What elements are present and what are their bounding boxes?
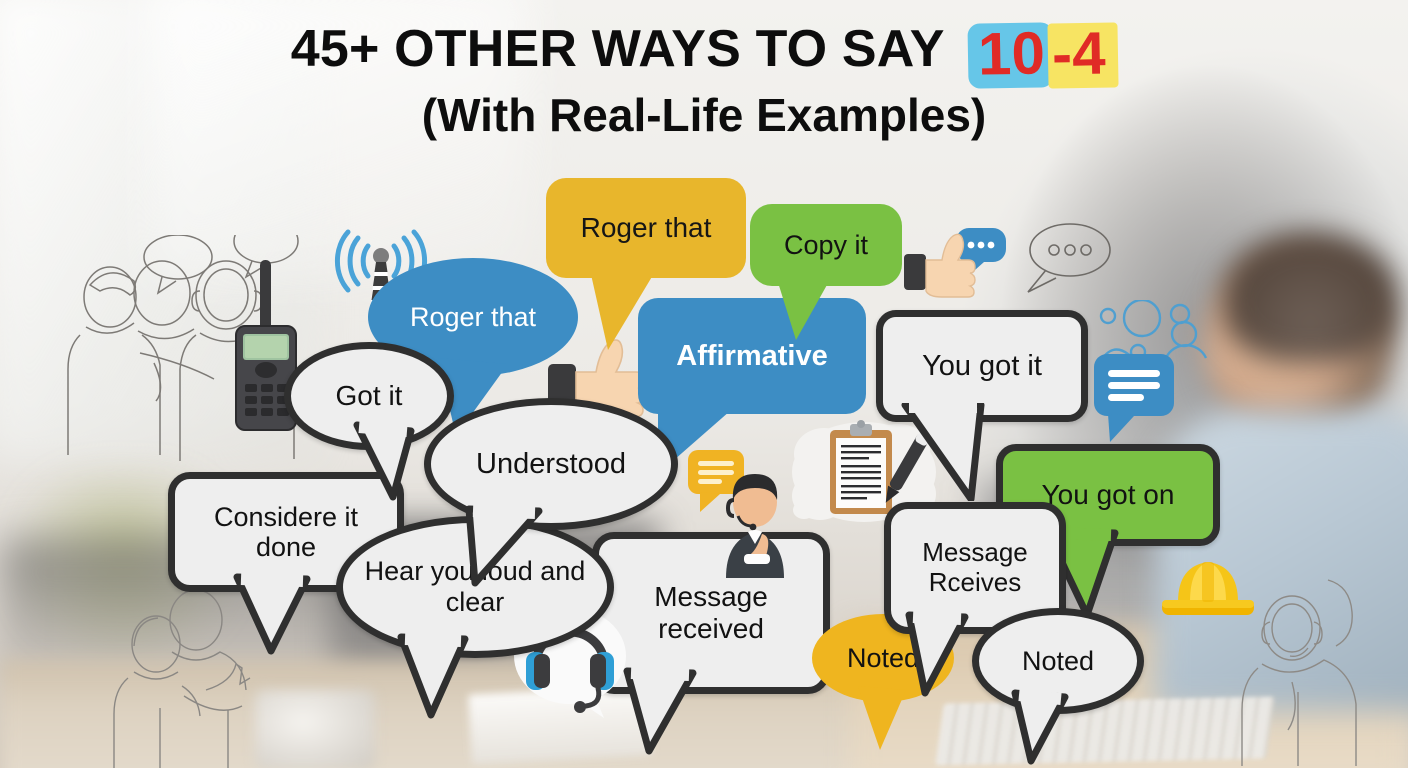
bubble-label: Copy it [770,230,882,261]
bubble-label: Affirmative [662,340,842,373]
bubble-label: Message Rceives [891,538,1059,598]
bubble-label: Roger that [396,302,550,333]
bubble-label: Message received [599,581,823,645]
bubble-you-got-it: You got it [876,310,1088,422]
ten-four-badge: 10-4 [968,23,1117,88]
title-line-two: (With Real-Life Examples) [0,90,1408,141]
chat-lines-icon [1092,352,1178,449]
bubble-label: Noted [1008,646,1108,677]
thumbs-up-icon-right [904,232,1000,311]
bubble-roger-that-yellow: Roger that [546,178,746,278]
background-keyboard [935,697,1275,766]
bubble-copy-it: Copy it [750,204,902,286]
title-line-one: 45+ OTHER WAYS TO SAY 10-4 [0,22,1408,88]
bubble-label: Roger that [567,212,726,244]
bubble-noted-outline: Noted [972,608,1144,714]
bubble-label: You got it [908,350,1056,383]
badge-number-ten: 10 [968,22,1054,88]
bubble-label: Understood [462,448,640,481]
call-agent-icon [708,470,802,583]
bubble-label: Got it [322,380,417,412]
bubble-understood: Understood [424,398,678,530]
badge-number-four: -4 [1047,22,1118,88]
infographic-canvas: Roger that Roger that Copy it Affirmativ… [0,0,1408,768]
title-block: 45+ OTHER WAYS TO SAY 10-4 (With Real-Li… [0,22,1408,141]
chat-outline-dots-icon [1018,218,1118,305]
title-line-one-text: 45+ OTHER WAYS TO SAY [291,20,959,78]
bubble-got-it: Got it [284,342,454,450]
background-mug [255,690,375,768]
hard-hat-icon [1160,548,1256,629]
